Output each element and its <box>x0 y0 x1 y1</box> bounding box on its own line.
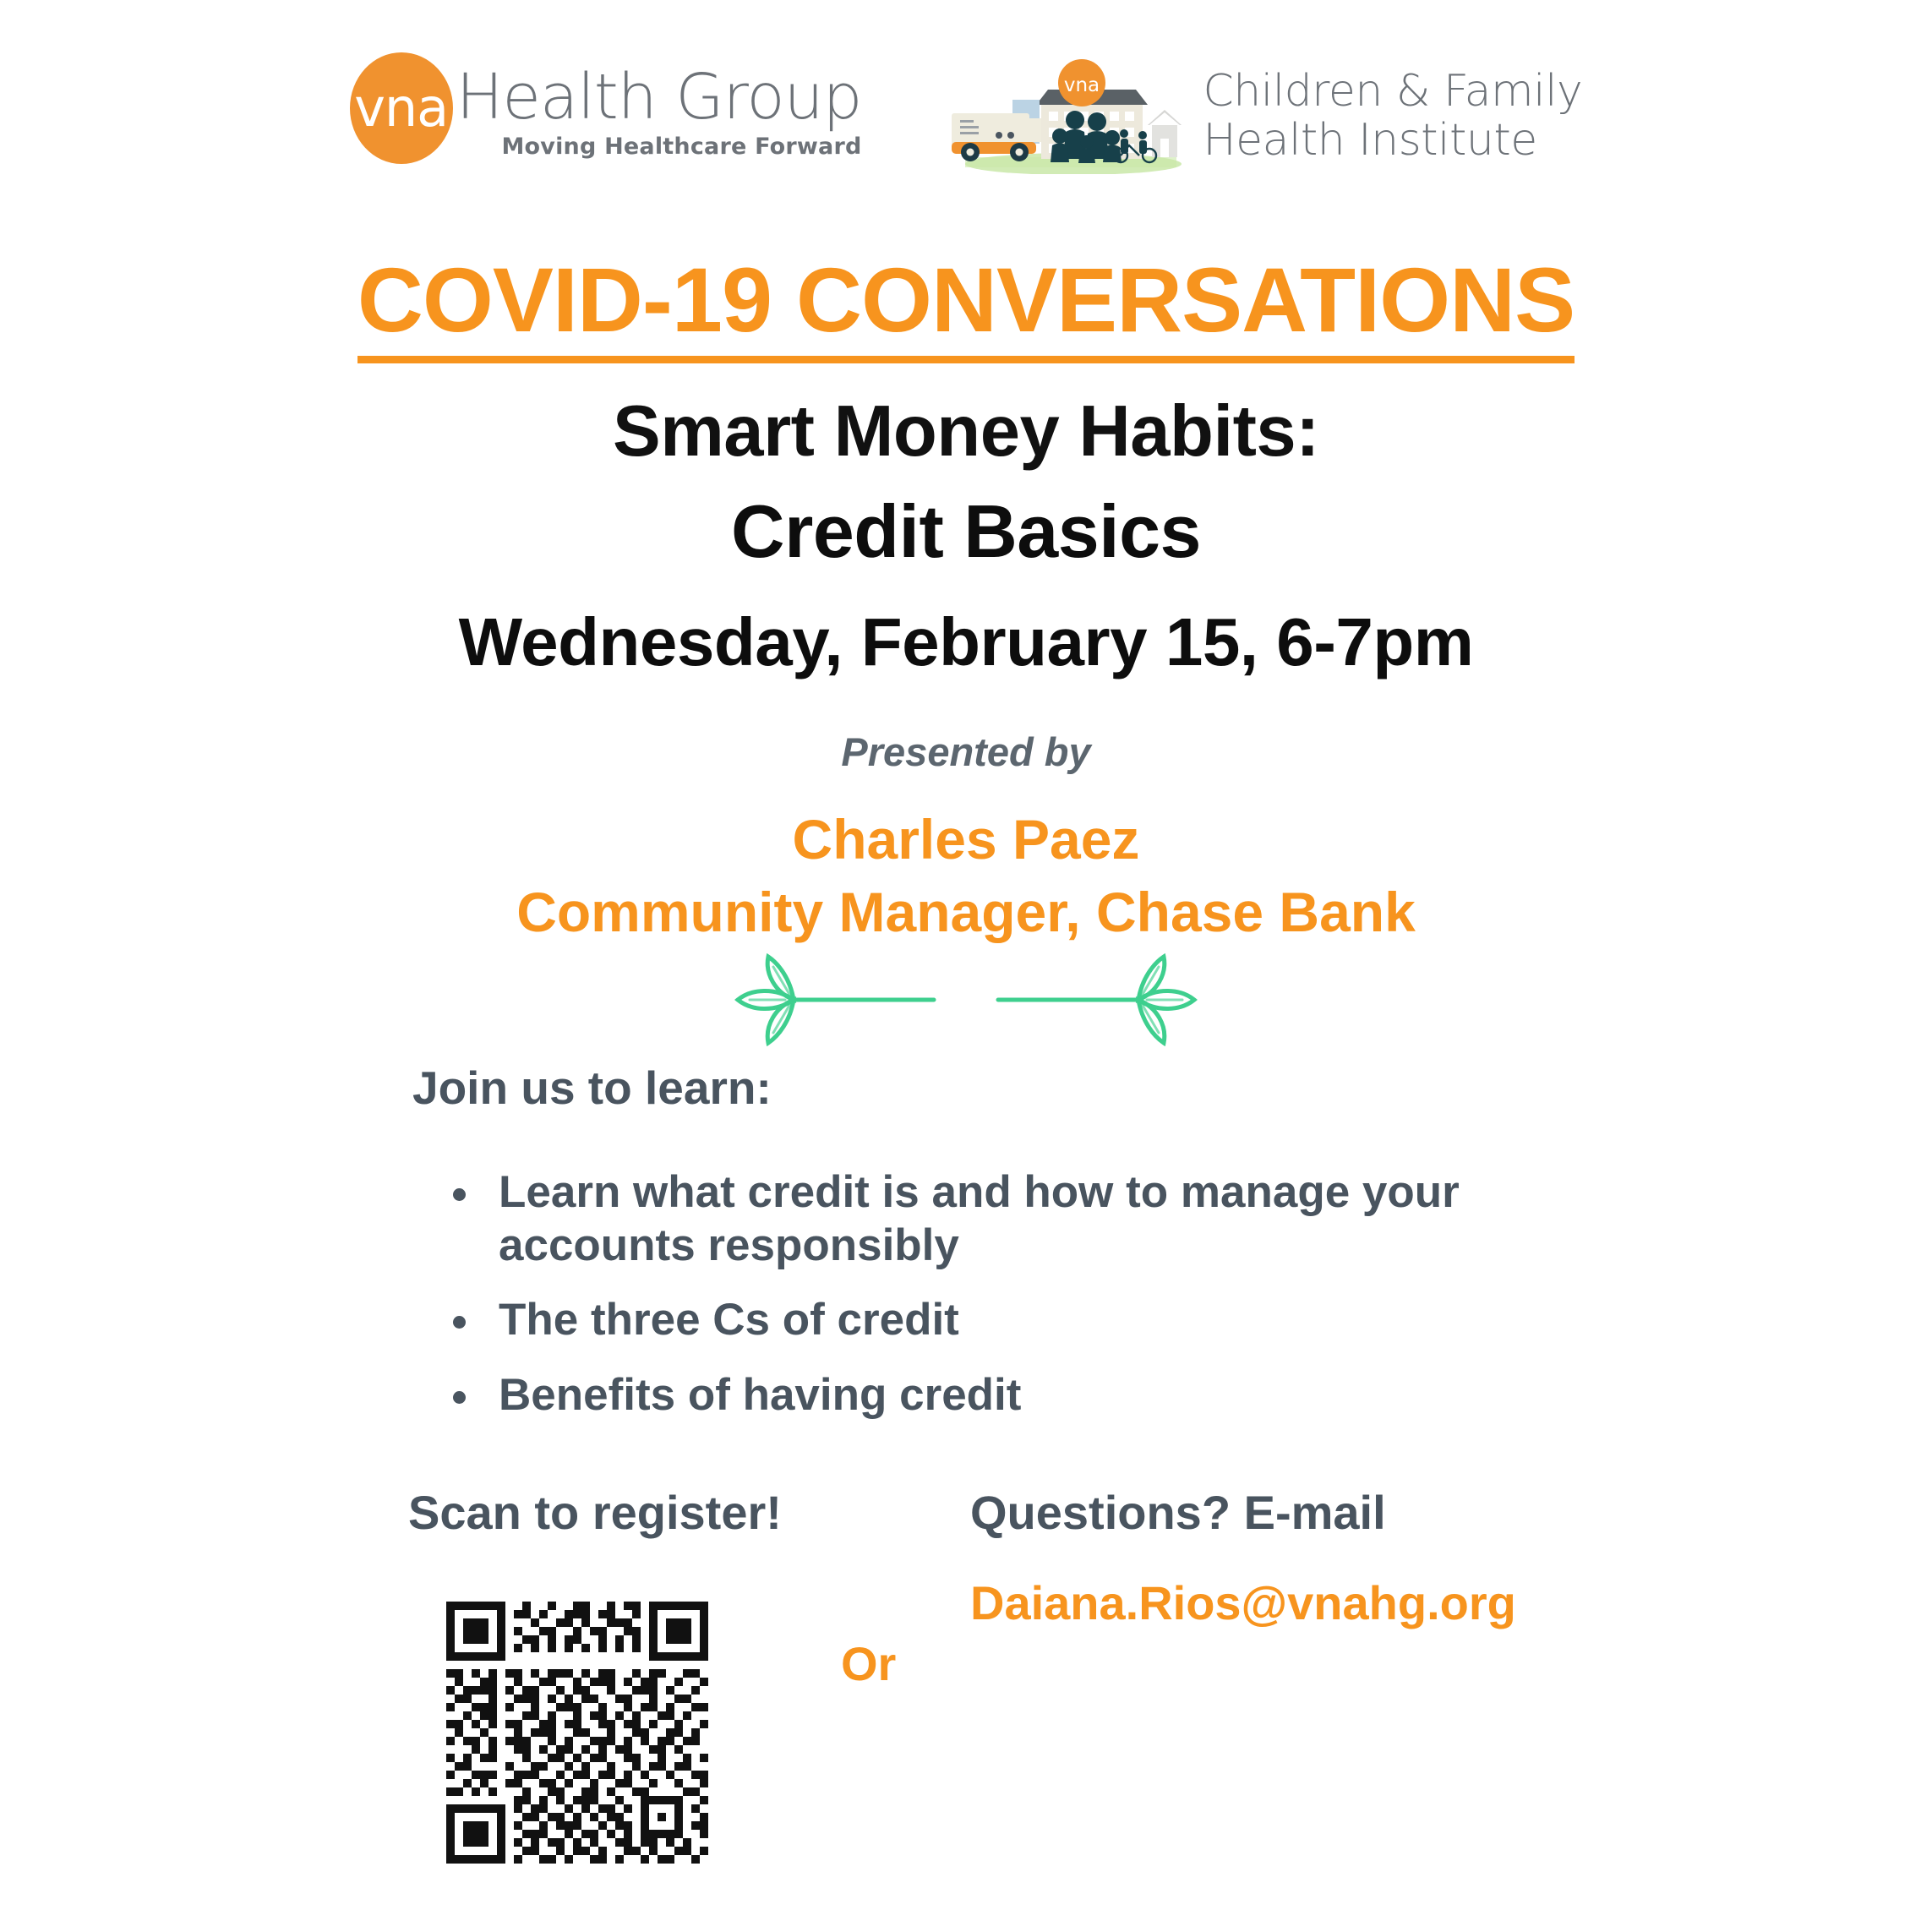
leaf-flourish-divider-icon <box>712 953 1220 1051</box>
page-title: COVID-19 CONVERSATIONS <box>0 247 1932 363</box>
vna-logomark-label: vna <box>354 82 448 134</box>
section-divider <box>0 953 1932 1051</box>
svg-text:vna: vna <box>1063 74 1099 96</box>
list-item: The three Cs of credit <box>433 1294 1548 1347</box>
cfhi-line-2: Health Institute <box>1203 116 1583 165</box>
learn-heading: Join us to learn: <box>412 1061 772 1115</box>
children-family-health-institute-logo: vna Children & Family Health Institute <box>947 57 1583 174</box>
presenter-name: Charles Paez <box>0 807 1932 871</box>
event-subtitle-line-1: Smart Money Habits: <box>0 390 1932 473</box>
vna-logo-name: Health Group <box>456 68 862 127</box>
vna-logo-wordmark: Health Group Moving Healthcare Forward <box>456 52 862 160</box>
qr-code-icon[interactable] <box>438 1593 717 1872</box>
scan-to-register-heading: Scan to register! <box>408 1485 782 1540</box>
event-subtitle-line-2: Credit Basics <box>0 488 1932 575</box>
vna-circle-logomark-icon: vna <box>350 52 453 164</box>
vna-health-group-logo: vna Health Group Moving Healthcare Forwa… <box>350 52 862 164</box>
logo-row: vna Health Group Moving Healthcare Forwa… <box>0 52 1932 174</box>
or-label: Or <box>841 1636 896 1691</box>
flyer-page: vna Health Group Moving Healthcare Forwa… <box>0 0 1932 1932</box>
list-item: Learn what credit is and how to manage y… <box>433 1166 1548 1272</box>
list-item: Benefits of having credit <box>433 1369 1548 1422</box>
vna-logo-tagline: Moving Healthcare Forward <box>456 134 862 160</box>
presenter-role: Community Manager, Chase Bank <box>0 880 1932 944</box>
contact-email[interactable]: Daiana.Rios@vnahg.org <box>970 1575 1516 1630</box>
cfhi-wordmark: Children & Family Health Institute <box>1203 67 1583 165</box>
learn-bullet-list: Learn what credit is and how to manage y… <box>433 1166 1548 1444</box>
questions-email-heading: Questions? E-mail <box>970 1485 1386 1540</box>
community-health-illustration-icon: vna <box>947 57 1183 174</box>
event-datetime: Wednesday, February 15, 6-7pm <box>0 603 1932 681</box>
presented-by-label: Presented by <box>0 729 1932 775</box>
page-title-text: COVID-19 CONVERSATIONS <box>357 252 1575 363</box>
cfhi-line-1: Children & Family <box>1203 67 1583 116</box>
